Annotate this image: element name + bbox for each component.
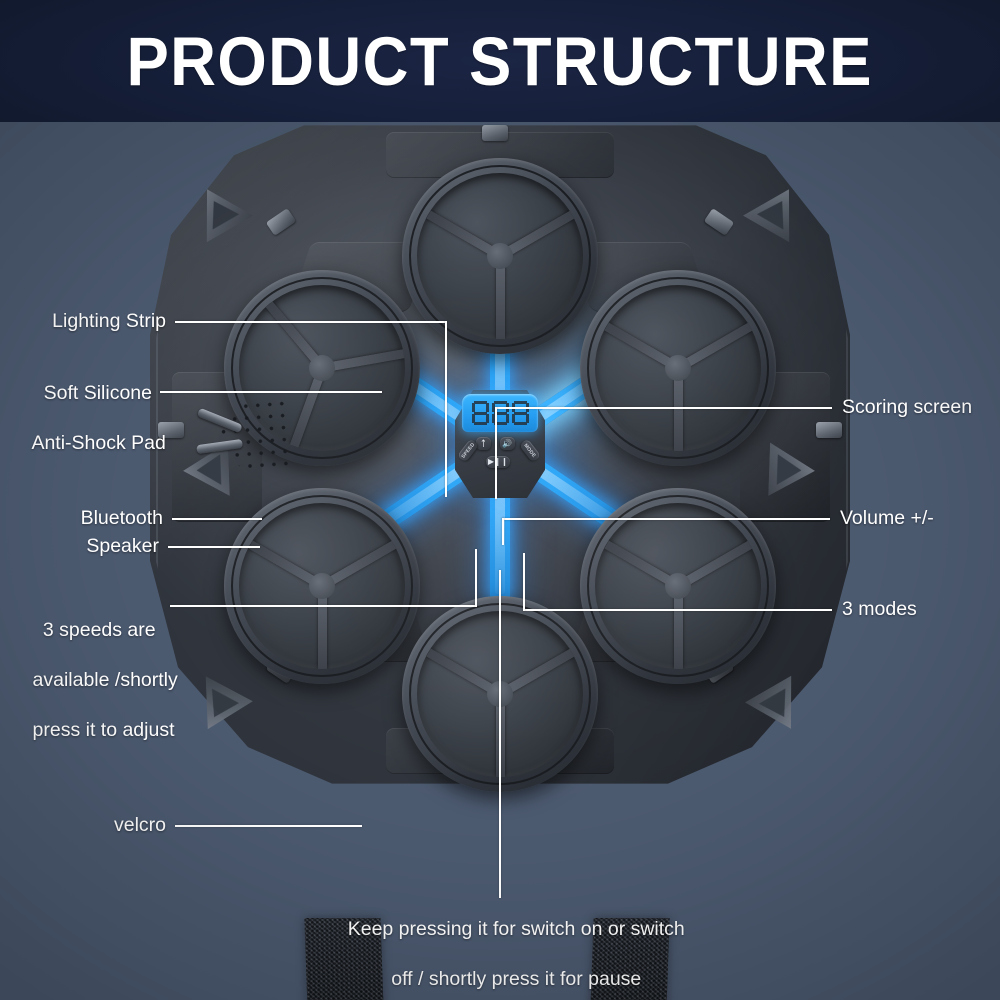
leader-line-soft-silicone bbox=[160, 391, 382, 393]
callout-velcro: velcro bbox=[0, 813, 166, 838]
leader-line-modes bbox=[523, 609, 832, 611]
callout-soft-silicone: Soft Silicone Anti-Shock Pad bbox=[0, 356, 152, 481]
leader-line-bluetooth bbox=[172, 518, 262, 520]
lcd-digit bbox=[512, 401, 529, 425]
speaker-grille bbox=[204, 397, 295, 477]
callout-speaker: Speaker bbox=[0, 534, 159, 559]
product-structure-infographic: PRODUCT STRUCTURE bbox=[0, 0, 1000, 1000]
leader-line-power-caption bbox=[499, 570, 501, 898]
callout-scoring-screen: Scoring screen bbox=[842, 395, 1000, 420]
callout-speeds-line2: available /shortly bbox=[33, 669, 178, 691]
callout-modes: 3 modes bbox=[842, 597, 1000, 622]
volume-button[interactable]: 🔊 bbox=[500, 437, 515, 450]
leader-line-scoring-screen bbox=[495, 407, 832, 409]
target-pad[interactable] bbox=[580, 270, 776, 466]
page-title: PRODUCT STRUCTURE bbox=[127, 22, 873, 101]
leader-line-volume-vertical bbox=[502, 518, 504, 545]
callout-power-line2: off / shortly press it for pause bbox=[391, 968, 641, 990]
callout-soft-silicone-line1: Soft Silicone bbox=[44, 382, 152, 404]
scoring-screen bbox=[462, 394, 538, 432]
play-pause-icon: ▶❙❙ bbox=[488, 458, 508, 466]
bluetooth-icon: ᛏ bbox=[481, 440, 486, 448]
leader-line-volume bbox=[502, 518, 830, 520]
callout-speeds: 3 speeds are available /shortly press it… bbox=[0, 593, 166, 768]
pad-inner-ring bbox=[587, 277, 769, 459]
callout-power-line1: Keep pressing it for switch on or switch bbox=[348, 918, 685, 940]
pad-inner-ring bbox=[231, 495, 413, 677]
lcd-digit bbox=[472, 401, 489, 425]
leader-line-velcro bbox=[175, 825, 362, 827]
leader-line-speeds-vertical bbox=[475, 549, 477, 607]
callout-bluetooth: Bluetooth bbox=[0, 506, 163, 531]
pad-inner-ring bbox=[409, 165, 591, 347]
target-pad[interactable] bbox=[402, 158, 598, 354]
leader-line-lighting-strip bbox=[175, 321, 447, 323]
leader-line-speaker bbox=[168, 546, 260, 548]
leader-line-lighting-strip-vertical bbox=[445, 321, 447, 497]
bluetooth-button[interactable]: ᛏ bbox=[476, 437, 491, 450]
leader-line-modes-vertical bbox=[523, 553, 525, 611]
callout-soft-silicone-line2: Anti-Shock Pad bbox=[31, 432, 165, 454]
callout-lighting-strip: Lighting Strip bbox=[0, 309, 166, 334]
volume-icon: 🔊 bbox=[502, 440, 512, 448]
housing-tab bbox=[482, 125, 508, 141]
power-play-pause-button[interactable]: ▶❙❙ bbox=[486, 456, 510, 468]
leader-line-scoring-screen-vertical bbox=[495, 407, 497, 499]
header-banner: PRODUCT STRUCTURE bbox=[0, 0, 1000, 122]
callout-speeds-line3: press it to adjust bbox=[33, 719, 175, 741]
pad-inner-ring bbox=[587, 495, 769, 677]
speaker-dots-icon bbox=[204, 397, 295, 477]
product-stage: ᛏ 🔊 SPEED MODE ▶❙❙ bbox=[0, 122, 1000, 1000]
leader-line-speeds bbox=[170, 605, 477, 607]
callout-power-caption: Keep pressing it for switch on or switch… bbox=[250, 892, 750, 1000]
housing-tab bbox=[816, 422, 842, 438]
callout-speeds-line1: 3 speeds are bbox=[43, 619, 156, 641]
callout-volume: Volume +/- bbox=[840, 506, 1000, 531]
